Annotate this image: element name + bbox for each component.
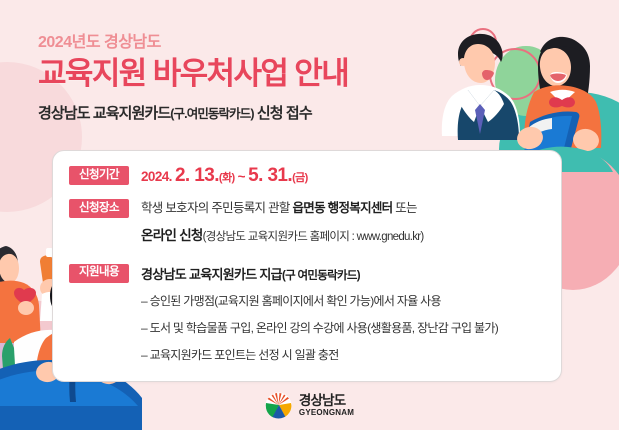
support-title-paren: (구 여민동락카드): [282, 270, 360, 282]
gyeongnam-sun-logo-icon: [265, 392, 292, 419]
application-place-value: 학생 보호자의 주민등록지 관할 읍면동 행정복지센터 또는 온라인 신청(경상…: [141, 199, 424, 246]
support-details-title: 경상남도 교육지원카드 지급(구 여민동락카드): [141, 264, 498, 283]
period-year: 2024.: [141, 169, 175, 184]
support-details-value: 경상남도 교육지원카드 지급(구 여민동락카드) – 승인된 가맹점(교육지원 …: [141, 264, 498, 363]
subtitle-paren: (구.여민동락카드): [170, 107, 253, 121]
period-separator: ~: [235, 169, 249, 184]
list-item: – 도서 및 학습물품 구입, 온라인 강의 수강에 사용(생활용품, 장난감 …: [141, 319, 498, 336]
poster-heading-group: 2024년도 경상남도 교육지원 바우처사업 안내 경상남도 교육지원카드(구.…: [38, 34, 348, 123]
period-start: 2. 13.: [175, 165, 219, 186]
list-item: – 승인된 가맹점(교육지원 홈페이지에서 확인 가능)에서 자율 사용: [141, 292, 498, 309]
badge-support-details: 지원내용: [69, 264, 129, 283]
footer-logo-english: GYEONGNAM: [299, 409, 354, 417]
footer-logo-korean: 경상남도: [299, 394, 354, 408]
footer-logo: 경상남도 GYEONGNAM: [0, 392, 619, 419]
period-end: 5. 31.: [248, 165, 292, 186]
row-support-details: 지원내용 경상남도 교육지원카드 지급(구 여민동락카드) – 승인된 가맹점(…: [69, 264, 561, 363]
kicker-text: 2024년도 경상남도: [38, 34, 348, 52]
place-line-1: 학생 보호자의 주민등록지 관할 읍면동 행정복지센터 또는: [141, 199, 424, 218]
poster-root: 2024년도 경상남도 교육지원 바우처사업 안내 경상남도 교육지원카드(구.…: [0, 0, 619, 430]
application-period-value: 2024. 2. 13.(화) ~ 5. 31.(금): [141, 166, 308, 185]
list-item: – 교육지원카드 포인트는 선정 시 일괄 충전: [141, 346, 498, 363]
place-line-2: 온라인 신청(경상남도 교육지원카드 홈페이지 : www.gnedu.kr): [141, 226, 424, 247]
support-title-bold: 경상남도 교육지원카드 지급: [141, 267, 282, 282]
online-application-note: (경상남도 교육지원카드 홈페이지 : www.gnedu.kr): [203, 231, 424, 243]
subtitle-main: 경상남도 교육지원카드: [38, 105, 170, 122]
footer-logo-text: 경상남도 GYEONGNAM: [299, 394, 354, 418]
support-details-bullets: – 승인된 가맹점(교육지원 홈페이지에서 확인 가능)에서 자율 사용 – 도…: [141, 292, 498, 363]
page-title: 교육지원 바우처사업 안내: [38, 58, 348, 91]
page-subtitle: 경상남도 교육지원카드(구.여민동락카드) 신청 접수: [38, 102, 348, 123]
subtitle-tail: 신청 접수: [254, 105, 312, 122]
period-start-day: (화): [219, 172, 235, 184]
info-card: 신청기간 2024. 2. 13.(화) ~ 5. 31.(금) 신청장소 학생…: [52, 150, 562, 382]
place-line1-post: 또는: [392, 201, 416, 215]
badge-application-period: 신청기간: [69, 166, 129, 185]
place-line1-pre: 학생 보호자의 주민등록지 관할: [141, 201, 293, 215]
row-application-place: 신청장소 학생 보호자의 주민등록지 관할 읍면동 행정복지센터 또는 온라인 …: [69, 199, 561, 246]
place-line1-bold: 읍면동 행정복지센터: [293, 201, 393, 215]
badge-application-place: 신청장소: [69, 199, 129, 218]
period-end-day: (금): [292, 172, 308, 184]
row-application-period: 신청기간 2024. 2. 13.(화) ~ 5. 31.(금): [69, 166, 561, 185]
online-application-label: 온라인 신청: [141, 228, 203, 243]
